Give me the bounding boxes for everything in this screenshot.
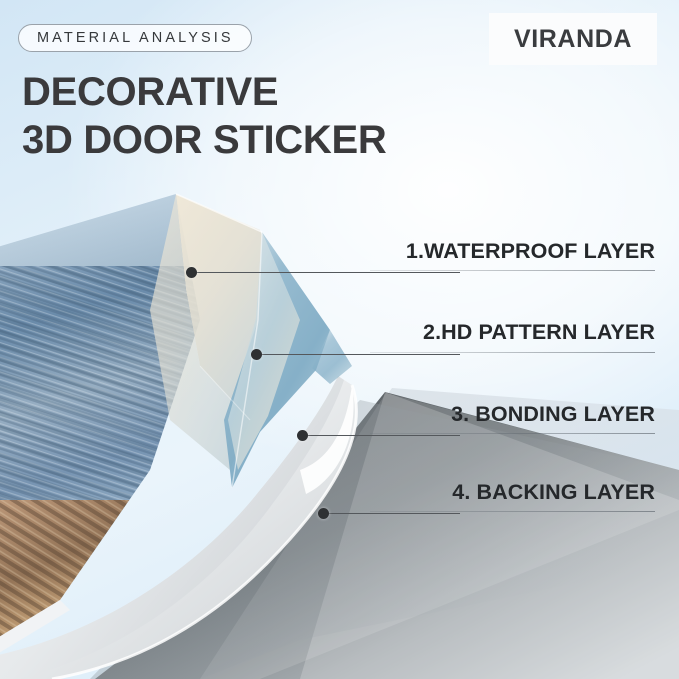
layer-marker-dot-4 <box>318 508 329 519</box>
layer-label-2: 2.HD PATTERN LAYER <box>423 320 655 345</box>
layer-leader-line-1 <box>197 272 460 273</box>
layer-leader-line-4 <box>329 513 460 514</box>
brand-logo-text: VIRANDA <box>514 25 632 54</box>
eyebrow-badge: MATERIAL ANALYSIS <box>18 24 252 52</box>
page-title-line2: 3D DOOR STICKER <box>22 118 386 163</box>
brand-logo: VIRANDA <box>489 13 657 65</box>
layer-marker-dot-1 <box>186 267 197 278</box>
layer-label-rule-2 <box>370 352 655 353</box>
layer-label-rule-4 <box>370 511 655 512</box>
layer-marker-dot-3 <box>297 430 308 441</box>
layer-leader-line-3 <box>308 435 460 436</box>
layer-label-3: 3. BONDING LAYER <box>451 402 655 427</box>
layer-marker-dot-2 <box>251 349 262 360</box>
layer-leader-line-2 <box>262 354 460 355</box>
layer-label-rule-3 <box>370 433 655 434</box>
product-infographic: MATERIAL ANALYSIS VIRANDA DECORATIVE 3D … <box>0 0 679 679</box>
page-title-line1: DECORATIVE <box>22 70 278 115</box>
layer-label-4: 4. BACKING LAYER <box>452 480 655 505</box>
layer-label-1: 1.WATERPROOF LAYER <box>406 239 655 264</box>
layer-label-rule-1 <box>370 270 655 271</box>
